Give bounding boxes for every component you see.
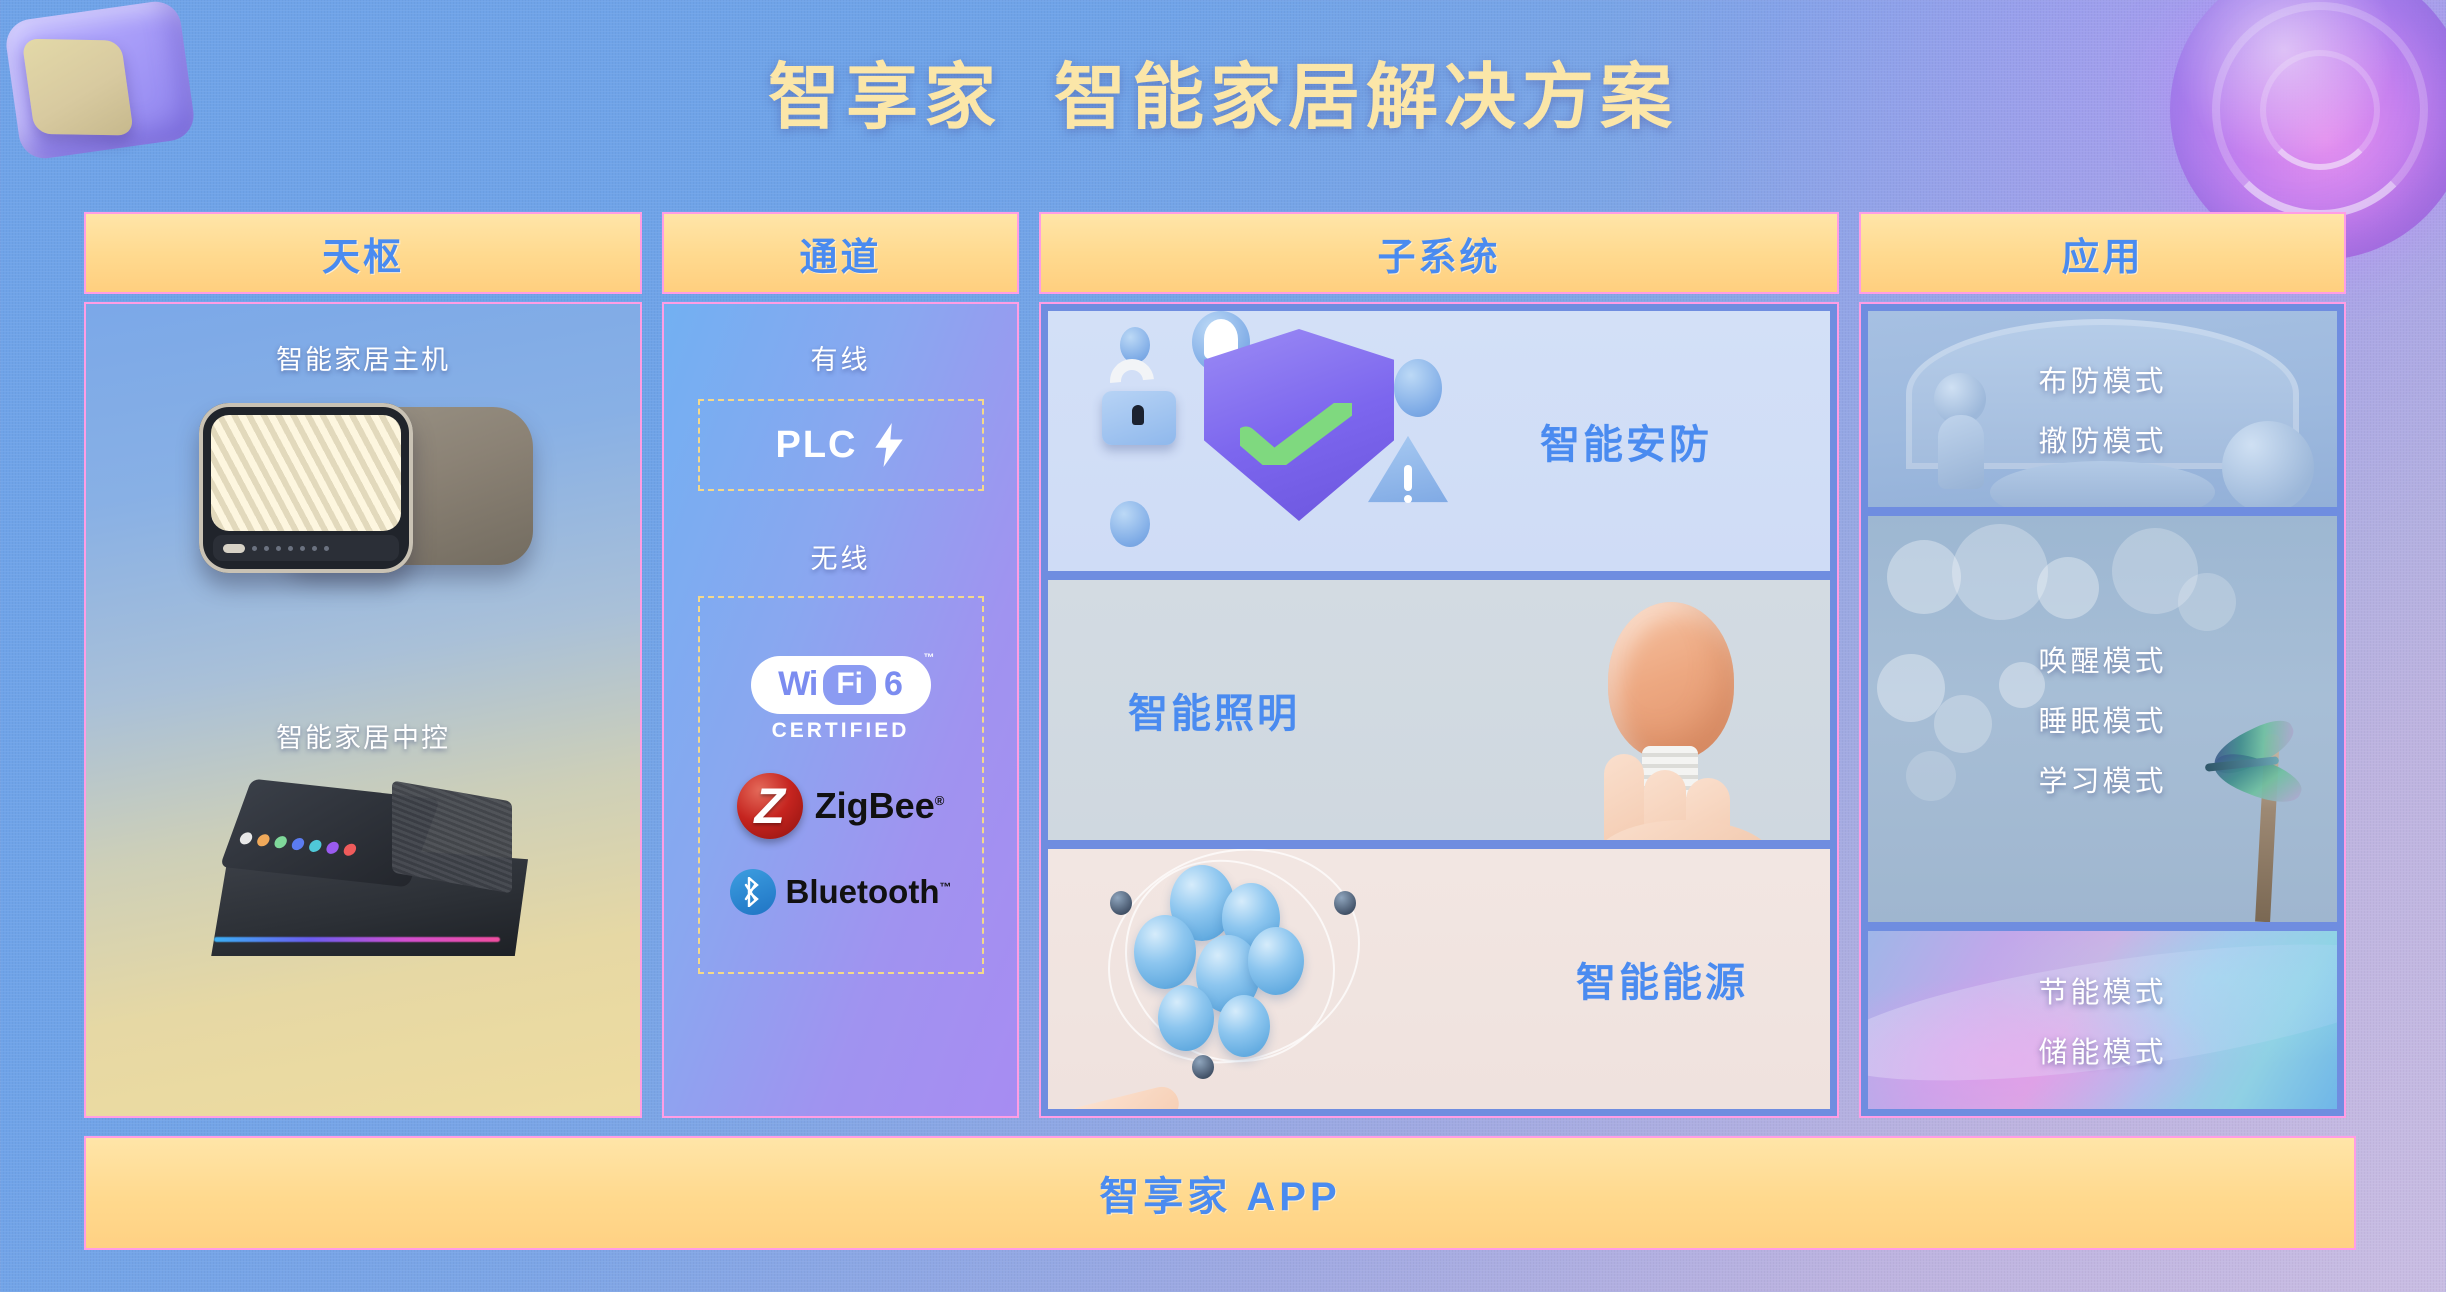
- subsystem-title: 智能照明: [1128, 681, 1300, 739]
- column-header-channel: 通道: [662, 212, 1019, 294]
- wired-protocol-box[interactable]: PLC: [698, 399, 984, 491]
- bluetooth-label: Bluetooth: [786, 873, 940, 910]
- wired-label: 有线: [811, 338, 871, 377]
- device-label: 智能家居主机: [86, 338, 640, 377]
- zigbee-logo: ZigBee®: [737, 773, 945, 839]
- application-mode-label: 储能模式: [2038, 1029, 2166, 1071]
- column-header-subsystem: 子系统: [1039, 212, 1839, 294]
- smart-home-host-icon: [86, 403, 640, 573]
- bluetooth-logo: Bluetooth™: [730, 869, 952, 915]
- wifi-wi-text: Wi: [778, 665, 817, 704]
- trademark-symbol: ™: [924, 652, 935, 664]
- column-body-application: 布防模式 撤防模式 唤醒模式 睡眠模式 学习模式: [1859, 302, 2346, 1118]
- wireless-label: 无线: [811, 537, 871, 576]
- lightning-bolt-icon: [872, 423, 906, 467]
- application-mode-label: 布防模式: [2038, 358, 2166, 400]
- column-body-channel: 有线 PLC 无线 Wi Fi 6 ™: [662, 302, 1019, 1118]
- application-card-scene-modes[interactable]: 唤醒模式 睡眠模式 学习模式: [1868, 516, 2337, 922]
- application-card-energy-modes[interactable]: 节能模式 储能模式: [1868, 931, 2337, 1109]
- application-mode-label: 唤醒模式: [2038, 638, 2166, 680]
- checkmark-icon: [1240, 403, 1352, 465]
- subsystem-title: 智能安防: [1540, 412, 1712, 470]
- registered-symbol: ®: [935, 793, 945, 808]
- device-smart-home-central-control[interactable]: 智能家居中控: [86, 716, 640, 956]
- wifi-6-text: 6: [884, 665, 903, 704]
- plc-label: PLC: [776, 424, 858, 467]
- subsystem-card-security[interactable]: 智能安防: [1048, 311, 1830, 571]
- zigbee-label: ZigBee: [815, 785, 935, 826]
- application-mode-label: 撤防模式: [2038, 418, 2166, 460]
- security-shield-icon: [1068, 311, 1498, 571]
- wireless-protocol-box[interactable]: Wi Fi 6 ™ CERTIFIED ZigBee®: [698, 596, 984, 974]
- plc-item: PLC: [776, 423, 906, 467]
- device-smart-home-host[interactable]: 智能家居主机: [86, 338, 640, 573]
- column-header-application: 应用: [1859, 212, 2346, 294]
- column-hub: 天枢 智能家居主机: [84, 212, 642, 1118]
- column-body-hub: 智能家居主机: [84, 302, 642, 1118]
- bluetooth-badge-icon: [730, 869, 776, 915]
- wifi6-certified-logo: Wi Fi 6 ™ CERTIFIED: [751, 656, 931, 743]
- molecule-in-hand-icon: [1072, 849, 1402, 1093]
- lightbulb-in-hand-icon: [1546, 596, 1796, 840]
- application-mode-label: 节能模式: [2038, 969, 2166, 1011]
- application-mode-label: 睡眠模式: [2038, 698, 2166, 740]
- solution-board: 天枢 智能家居主机: [84, 212, 2356, 1118]
- trademark-symbol: ™: [939, 880, 951, 894]
- column-subsystem: 子系统 智能安防: [1039, 212, 1839, 1118]
- warning-triangle-icon: [1368, 433, 1448, 505]
- column-header-hub: 天枢: [84, 212, 642, 294]
- lock-icon: [1102, 359, 1178, 445]
- column-channel: 通道 有线 PLC 无线 Wi Fi 6 ™: [662, 212, 1019, 1118]
- wifi-fi-text: Fi: [821, 663, 878, 707]
- subsystem-card-lighting[interactable]: 智能照明: [1048, 580, 1830, 840]
- smart-home-central-control-icon: [86, 781, 640, 956]
- device-label: 智能家居中控: [86, 716, 640, 755]
- column-application: 应用 布防模式 撤防模式 唤醒模式: [1859, 212, 2346, 1118]
- wifi-certified-text: CERTIFIED: [751, 719, 931, 743]
- application-card-security-modes[interactable]: 布防模式 撤防模式: [1868, 311, 2337, 507]
- subsystem-title: 智能能源: [1576, 950, 1748, 1008]
- app-footer-bar[interactable]: 智享家 APP: [84, 1136, 2356, 1250]
- subsystem-card-energy[interactable]: 智能能源: [1048, 849, 1830, 1109]
- application-mode-label: 学习模式: [2038, 758, 2166, 800]
- page-title: 智享家 智能家居解决方案: [0, 38, 2446, 143]
- column-body-subsystem: 智能安防 智能照明: [1039, 302, 1839, 1118]
- zigbee-z-badge-icon: [737, 773, 803, 839]
